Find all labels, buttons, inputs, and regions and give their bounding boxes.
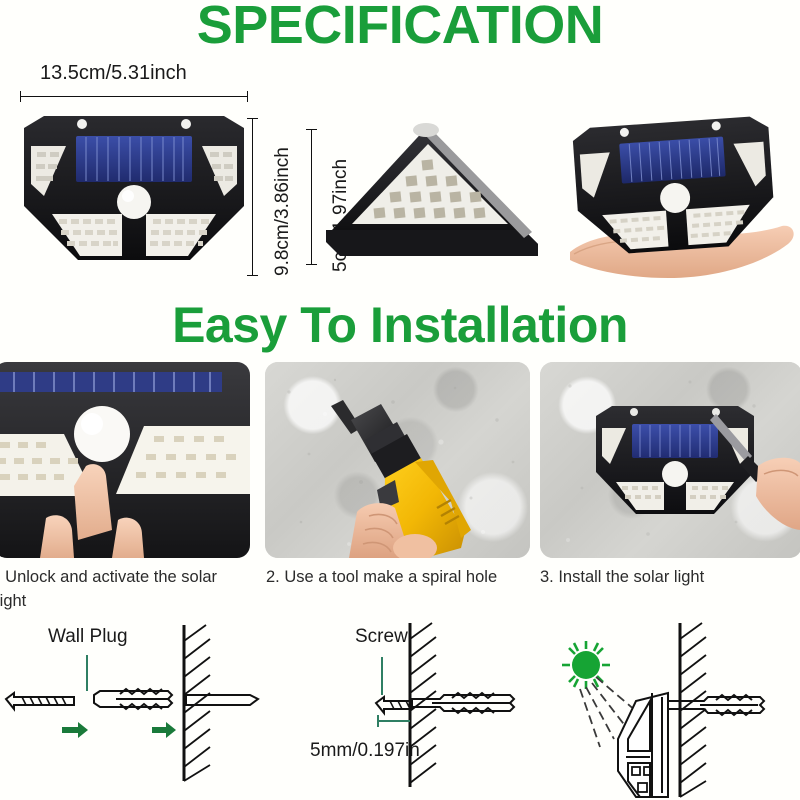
depth-tick-top xyxy=(306,129,317,130)
step-2-caption: 2. Use a tool make a spiral hole xyxy=(266,566,516,590)
step-1-caption: . Unlock and activate the solar light xyxy=(0,566,246,614)
page-title-specification: SPECIFICATION xyxy=(0,0,800,56)
step-2-photo-power-drill xyxy=(265,362,530,558)
wall-plug-diagram xyxy=(0,615,280,800)
dimension-width-label: 13.5cm/5.31inch xyxy=(40,62,187,85)
screw-diagram xyxy=(280,615,560,800)
product-front-view-lamp xyxy=(14,110,254,278)
step-1-photo-finger-pressing-sensor xyxy=(0,362,250,558)
width-dimension-rule xyxy=(20,96,248,97)
mounted-light-diagram xyxy=(540,615,800,800)
depth-tick-bottom xyxy=(306,264,317,265)
width-tick-right xyxy=(247,91,248,102)
width-tick-left xyxy=(20,91,21,102)
dimension-height-label: 9.8cm/3.86inch xyxy=(272,147,294,276)
page-title-installation: Easy To Installation xyxy=(0,296,800,354)
product-side-view-lamp xyxy=(318,118,544,266)
step-3-photo-lamp-mounted xyxy=(540,362,800,558)
product-spec-infographic: SPECIFICATION 13.5cm/5.31inch 9.8cm/3.86… xyxy=(0,0,800,800)
depth-dimension-rule xyxy=(311,129,312,265)
product-lamp-in-hand xyxy=(556,112,800,290)
step-3-caption: 3. Install the solar light xyxy=(540,566,790,590)
